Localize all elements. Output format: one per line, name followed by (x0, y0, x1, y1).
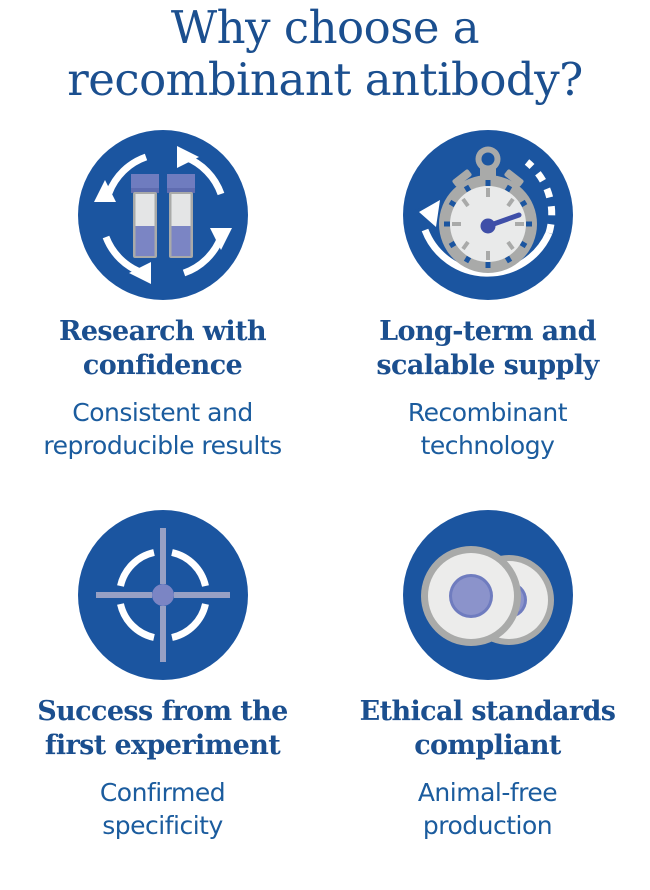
benefit-subtext: Recombinant technology (327, 396, 649, 462)
benefit-heading-line-2: scalable supply (328, 349, 648, 383)
stopwatch-long-term-supply-icon (403, 130, 573, 300)
benefit-heading-line-2: compliant (328, 729, 648, 763)
benefit-subtext-line-1: Confirmed (2, 776, 324, 809)
benefit-card-ethical-standards-compliant: Ethical standards compliant Animal-free … (325, 510, 650, 890)
page-title: Why choose a recombinant antibody? (0, 2, 650, 106)
benefit-subtext: Animal-free production (327, 776, 649, 842)
benefits-grid: Research with confidence Consistent and … (0, 130, 650, 890)
benefit-heading: Success from the first experiment (3, 695, 323, 763)
benefit-subtext: Consistent and reproducible results (2, 396, 324, 462)
benefit-subtext-line-1: Consistent and (2, 396, 324, 429)
benefit-heading: Long-term and scalable supply (328, 315, 648, 383)
benefit-heading-line-1: Success from the (3, 695, 323, 729)
benefit-heading: Ethical standards compliant (328, 695, 648, 763)
crosshair-target-icon (78, 510, 248, 680)
page-title-line-1: Why choose a (0, 2, 650, 54)
benefit-subtext: Confirmed specificity (2, 776, 324, 842)
reproducibility-vials-cycle-icon (78, 130, 248, 300)
benefit-heading-line-2: first experiment (3, 729, 323, 763)
page-title-line-2: recombinant antibody? (0, 54, 650, 106)
benefit-subtext-line-2: reproducible results (2, 429, 324, 462)
infographic-root: Why choose a recombinant antibody? (0, 0, 650, 889)
benefit-card-long-term-and-scalable-supply: Long-term and scalable supply Recombinan… (325, 130, 650, 510)
two-cells-animal-free-icon (403, 510, 573, 680)
benefit-heading-line-1: Ethical standards (328, 695, 648, 729)
benefit-subtext-line-2: specificity (2, 809, 324, 842)
benefit-heading-line-1: Research with (3, 315, 323, 349)
benefit-heading: Research with confidence (3, 315, 323, 383)
benefit-card-success-from-the-first-experiment: Success from the first experiment Confir… (0, 510, 325, 890)
benefit-card-research-with-confidence: Research with confidence Consistent and … (0, 130, 325, 510)
benefit-subtext-line-1: Animal-free (327, 776, 649, 809)
benefit-subtext-line-1: Recombinant (327, 396, 649, 429)
benefit-heading-line-2: confidence (3, 349, 323, 383)
benefit-heading-line-1: Long-term and (328, 315, 648, 349)
benefit-subtext-line-2: technology (327, 429, 649, 462)
benefit-subtext-line-2: production (327, 809, 649, 842)
